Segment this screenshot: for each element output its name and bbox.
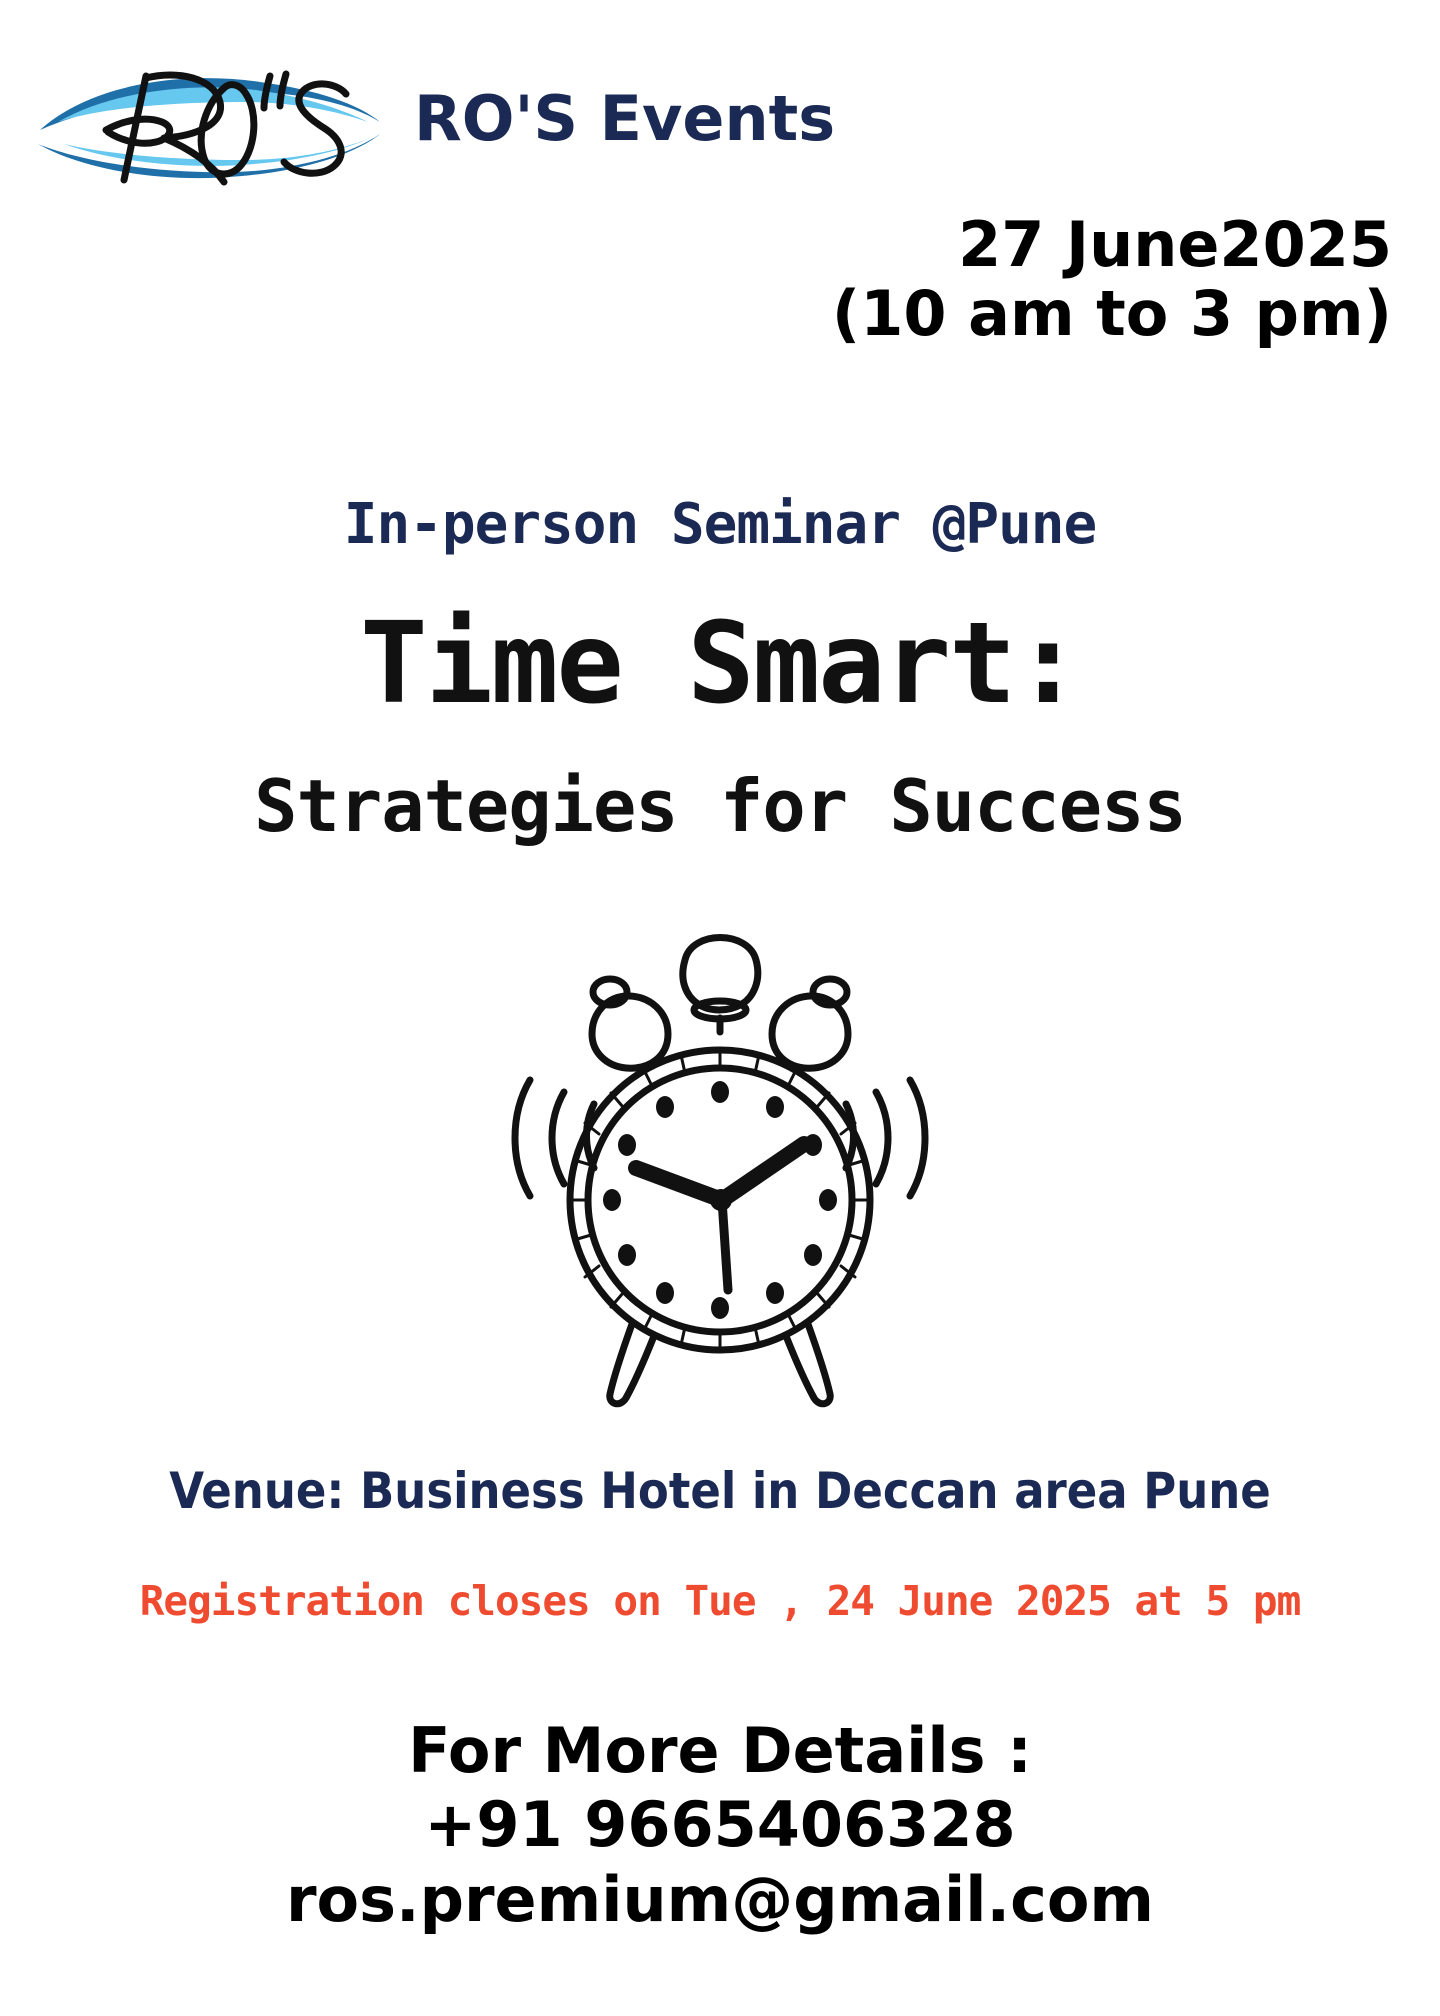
page-title: Time Smart:: [0, 608, 1440, 720]
contact-email[interactable]: ros.premium@gmail.com: [0, 1863, 1440, 1937]
event-time: (10 am to 3 pm): [832, 279, 1392, 348]
event-datetime: 27 June2025 (10 am to 3 pm): [832, 210, 1392, 349]
event-date: 27 June2025: [832, 210, 1392, 279]
contact-heading: For More Details :: [0, 1714, 1440, 1788]
poster-header: RO'S Events: [28, 52, 835, 192]
event-poster: RO'S Events 27 June2025 (10 am to 3 pm) …: [0, 0, 1440, 2016]
ros-logo-icon: [28, 52, 388, 192]
registration-notice: Registration closes on Tue , 24 June 202…: [0, 1577, 1440, 1625]
contact-phone[interactable]: +91 9665406328: [0, 1788, 1440, 1862]
brand-name: RO'S Events: [414, 88, 835, 156]
page-subtitle: Strategies for Success: [0, 770, 1440, 842]
event-format: In-person Seminar @Pune: [0, 492, 1440, 557]
contact-details: For More Details : +91 9665406328 ros.pr…: [0, 1714, 1440, 1937]
alarm-clock-illustration: [0, 900, 1440, 1420]
venue-text: Venue: Business Hotel in Deccan area Pun…: [0, 1462, 1440, 1520]
